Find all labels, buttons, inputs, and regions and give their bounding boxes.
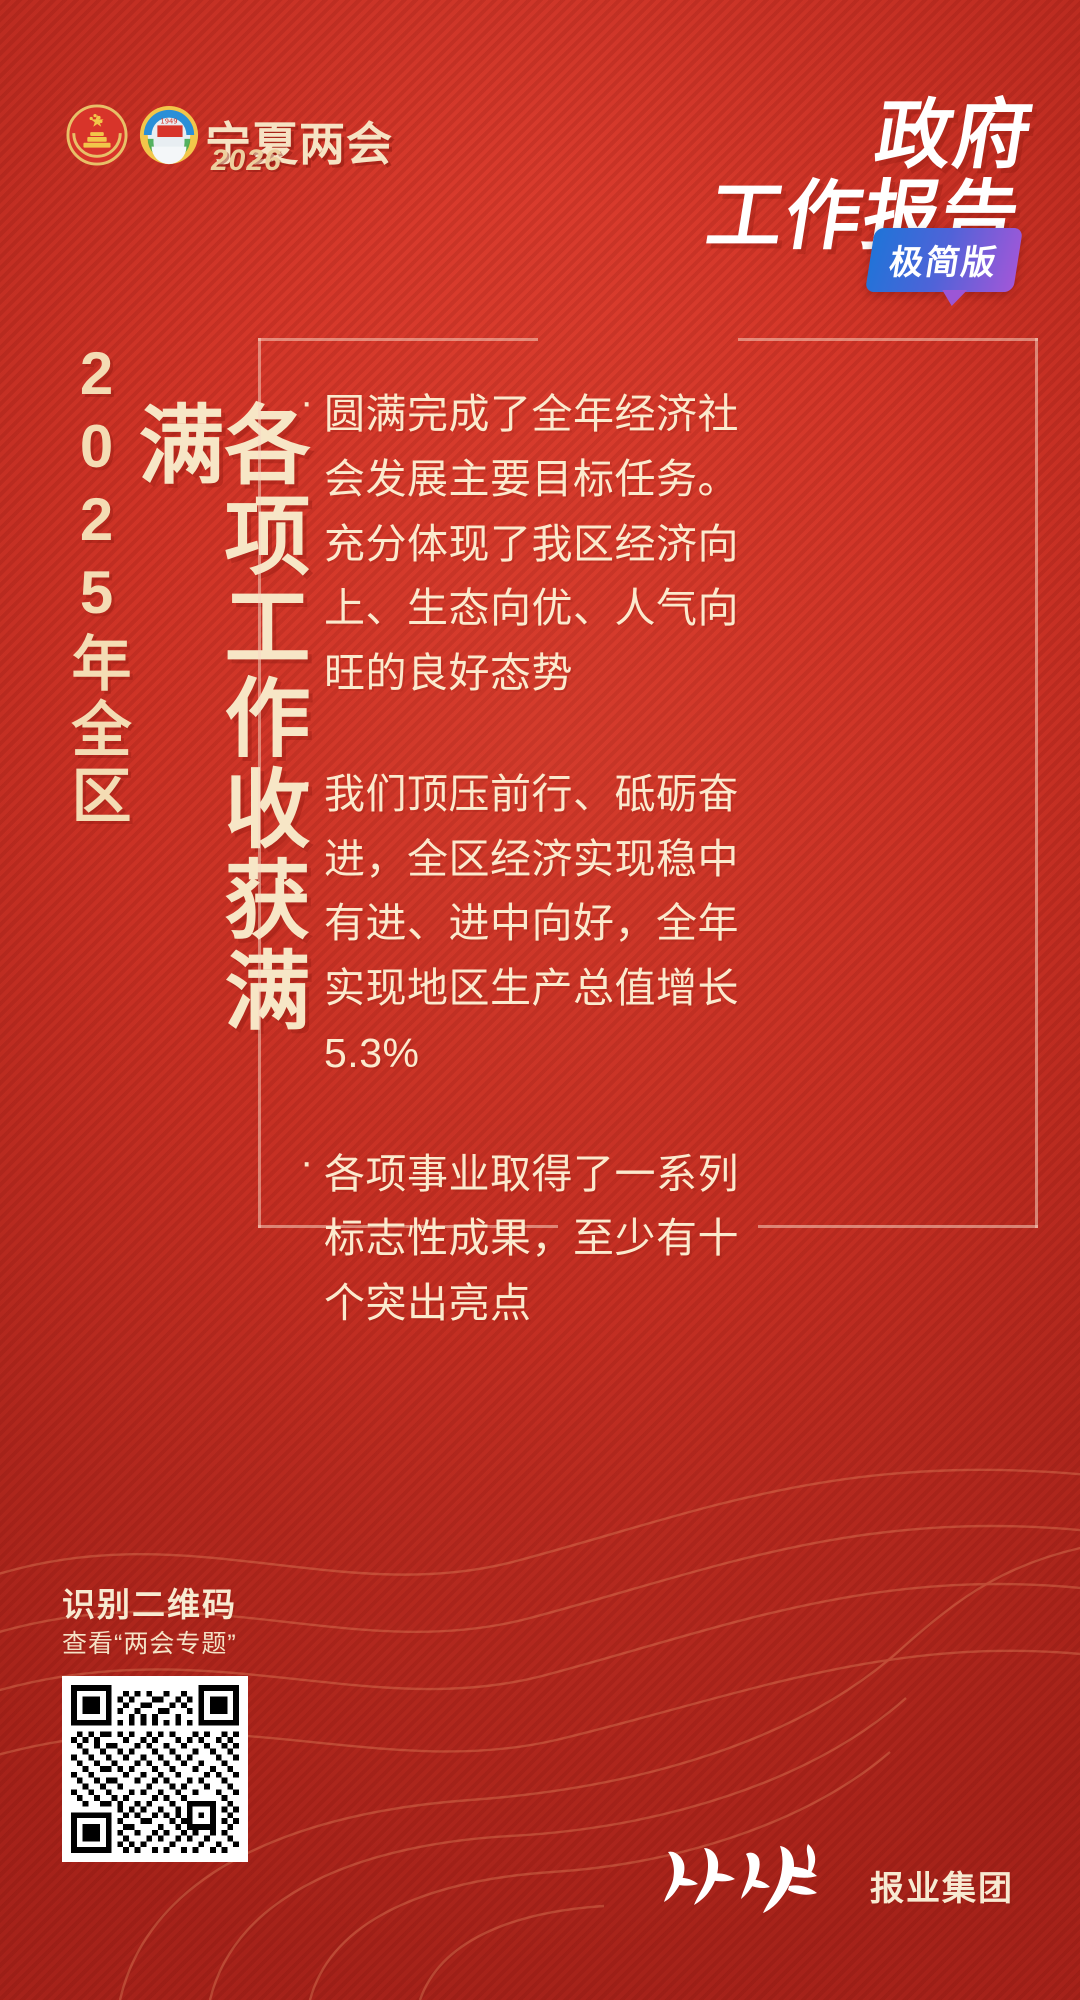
emblem-group: 1949 [66,104,200,166]
qr-code-icon [71,1685,239,1853]
ningxia-daily-calligraphy-logo [658,1838,858,1916]
report-title-line-1: 政府 [714,96,1039,177]
qr-code[interactable] [62,1676,248,1862]
bullet-marker: · [300,382,324,706]
cppcc-emblem-icon: 1949 [138,104,200,166]
publisher-name: 报业集团 [870,1861,1014,1916]
svg-text:1949: 1949 [160,117,177,125]
bullet-text: 我们顶压前行、砥砺奋进，全区经济实现稳中有进、进中向好，全年实现地区生产总值增长… [324,762,770,1086]
frame-edge-left [258,338,261,1228]
status-badge: 极简版 [865,228,1023,292]
poster-canvas: 1949 宁夏两会 2026 政府 工作报告 极简版 2025年全区 各项工作收… [0,0,1080,2000]
bullet-text: 各项事业取得了一系列标志性成果，至少有十个突出亮点 [324,1142,770,1336]
vertical-subtitle: 2025年全区 [66,340,126,830]
frame-edge-right [1035,338,1038,1228]
list-item: · 圆满完成了全年经济社会发展主要目标任务。充分体现了我区经济向上、生态向优、人… [300,382,770,706]
qr-instruction-sub: 查看“两会专题” [62,1624,237,1660]
bullet-marker: · [300,1142,324,1336]
frame-edge-bottom-right [758,1225,1038,1228]
brand-lockup: 宁夏两会 2026 [205,108,505,178]
publisher-lockup: 报业集团 [658,1838,1014,1916]
bullet-marker: · [300,762,324,1086]
poster-footer: 识别二维码 查看“两会专题” [0,1560,1080,2000]
frame-edge-top-right [738,338,1038,341]
list-item: · 各项事业取得了一系列标志性成果，至少有十个突出亮点 [300,1142,770,1336]
poster-header: 1949 宁夏两会 2026 政府 工作报告 极简版 [0,0,1080,320]
vertical-title-block: 2025年全区 各项工作收获满满 [0,330,250,1090]
frame-edge-top-left [258,338,538,341]
edition-badge-wrapper: 极简版 [870,228,1018,292]
list-item: · 我们顶压前行、砥砺奋进，全区经济实现稳中有进、进中向好，全年实现地区生产总值… [300,762,770,1086]
bullet-list: · 圆满完成了全年经济社会发展主要目标任务。充分体现了我区经济向上、生态向优、人… [300,382,770,1336]
bullet-text: 圆满完成了全年经济社会发展主要目标任务。充分体现了我区经济向上、生态向优、人气向… [324,382,770,706]
brand-year: 2026 [211,144,282,178]
national-emblem-icon [66,104,128,166]
qr-instruction-title: 识别二维码 [62,1578,237,1626]
